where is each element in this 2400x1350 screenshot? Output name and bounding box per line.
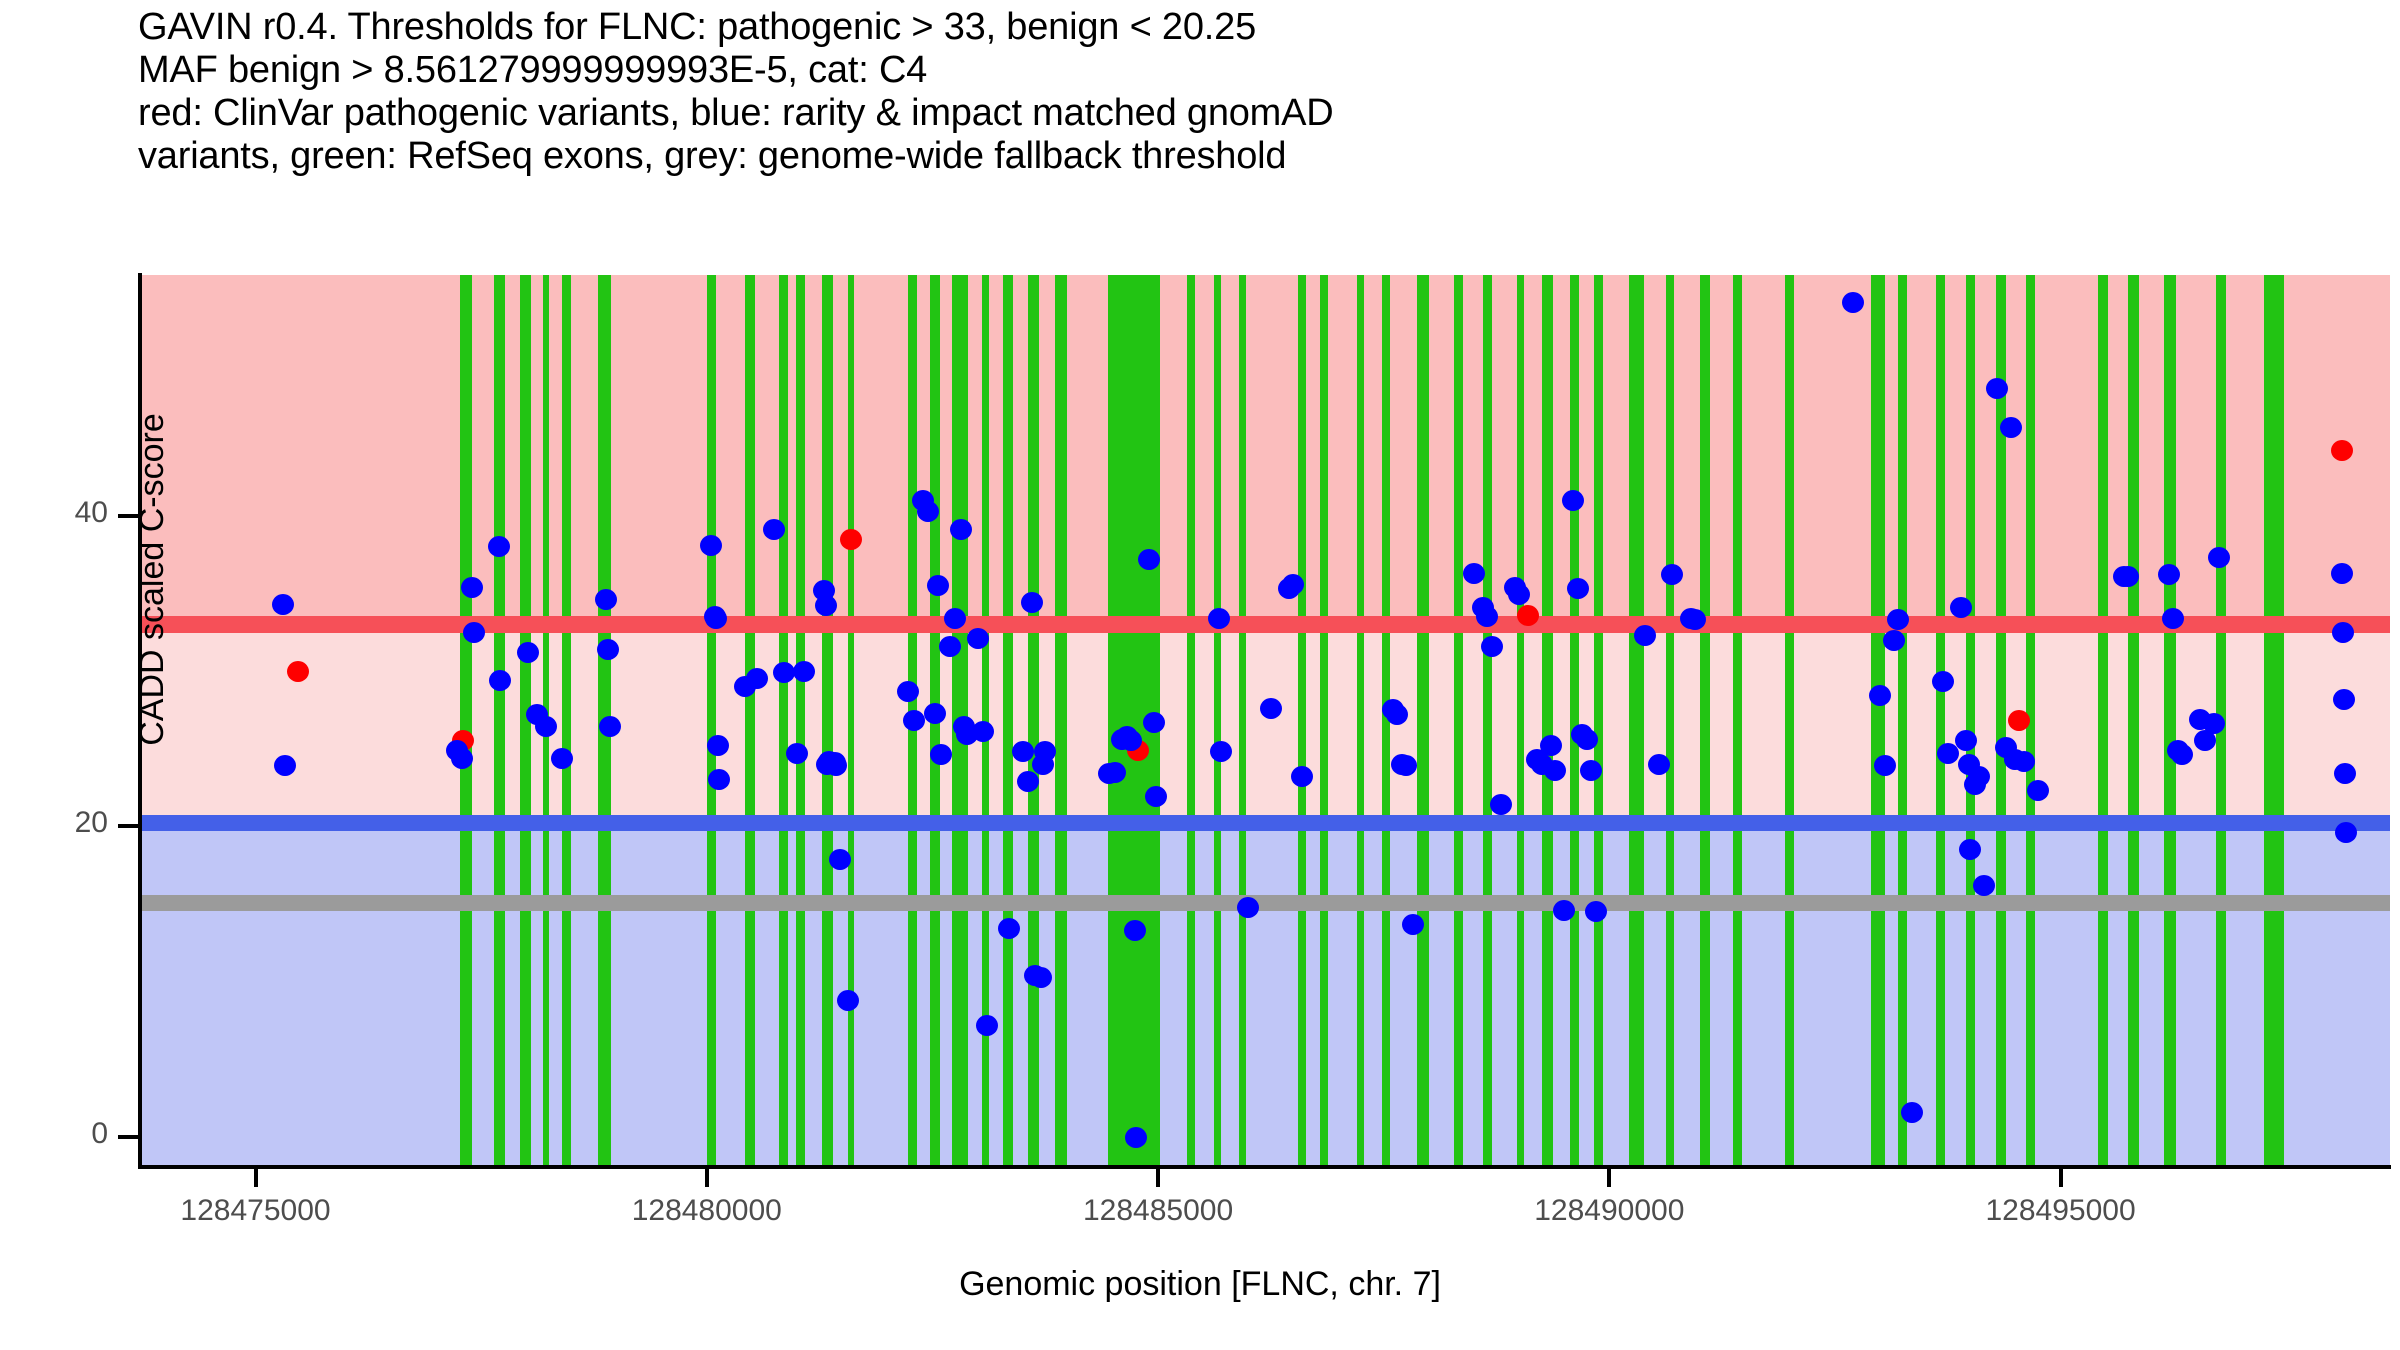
- gnomad-variant-point: [2331, 563, 2353, 584]
- gnomad-variant-point: [2334, 763, 2356, 784]
- gnomad-variant-point: [517, 642, 539, 663]
- exon-bar: [1187, 275, 1195, 1165]
- x-tick-mark: [254, 1169, 258, 1187]
- fallback-threshold-line: [140, 895, 2390, 911]
- gnomad-variant-point: [2335, 822, 2357, 843]
- exon-bar: [707, 275, 716, 1165]
- gnomad-variant-point: [1648, 754, 1670, 775]
- gnomad-variant-point: [1104, 762, 1126, 783]
- exon-bar: [460, 275, 471, 1165]
- x-tick-mark: [705, 1169, 709, 1187]
- exon-bar: [1454, 275, 1463, 1165]
- gnomad-variant-point: [2013, 751, 2035, 772]
- exon-bar: [1357, 275, 1364, 1165]
- x-tick-label: 128475000: [180, 1194, 330, 1228]
- gnomad-variant-point: [967, 628, 989, 649]
- gnomad-variant-point: [2208, 547, 2230, 568]
- gnomad-variant-point: [1012, 741, 1034, 762]
- exon-bar: [1594, 275, 1603, 1165]
- exon-bar: [1936, 275, 1945, 1165]
- gnomad-variant-point: [1138, 549, 1160, 570]
- exon-bar: [562, 275, 571, 1165]
- gnomad-variant-point: [2000, 417, 2022, 438]
- y-tick-mark: [118, 824, 138, 828]
- gnomad-variant-point: [1576, 729, 1598, 750]
- gnomad-variant-point: [2158, 564, 2180, 585]
- gnomad-variant-point: [944, 608, 966, 629]
- gnomad-variant-point: [2162, 608, 2184, 629]
- exon-bar: [1785, 275, 1794, 1165]
- gnomad-variant-point: [1237, 897, 1259, 918]
- exon-bar: [1320, 275, 1328, 1165]
- exon-bar: [1542, 275, 1554, 1165]
- x-tick-mark: [1607, 1169, 1611, 1187]
- gnomad-variant-point: [1874, 755, 1896, 776]
- exon-bar: [1028, 275, 1039, 1165]
- pathogenic-variant-point: [1517, 605, 1539, 626]
- title-line-1: GAVIN r0.4. Thresholds for FLNC: pathoge…: [138, 6, 2338, 49]
- exon-bar: [1966, 275, 1975, 1165]
- gnomad-variant-point: [976, 1015, 998, 1036]
- y-tick-mark: [118, 1135, 138, 1139]
- exon-bar: [2264, 275, 2285, 1165]
- exon-bar: [745, 275, 755, 1165]
- y-axis-title: CADD scaled C-score: [133, 413, 172, 746]
- exon-bar: [1055, 275, 1067, 1165]
- plot-area: [140, 275, 2390, 1165]
- gnomad-variant-point: [1540, 735, 1562, 756]
- pathogenic-variant-point: [2331, 440, 2353, 461]
- exon-bar: [1298, 275, 1306, 1165]
- gnomad-variant-point: [1937, 743, 1959, 764]
- gnomad-variant-point: [1585, 901, 1607, 922]
- gnomad-variant-point: [1260, 698, 1282, 719]
- gnomad-variant-point: [700, 535, 722, 556]
- exon-bar: [1898, 275, 1907, 1165]
- exon-bar: [1871, 275, 1885, 1165]
- gnomad-variant-point: [773, 662, 795, 683]
- title-line-2: MAF benign > 8.561279999999993E-5, cat: …: [138, 49, 2338, 92]
- exon-bar: [1417, 275, 1429, 1165]
- gnomad-variant-point: [1562, 490, 1584, 511]
- gnomad-variant-point: [927, 575, 949, 596]
- gnomad-variant-point: [595, 589, 617, 610]
- gnomad-variant-point: [1125, 1127, 1147, 1148]
- x-tick-label: 128480000: [632, 1194, 782, 1228]
- gnomad-variant-point: [786, 743, 808, 764]
- x-tick-label: 128495000: [1985, 1194, 2135, 1228]
- chart-root: GAVIN r0.4. Thresholds for FLNC: pathoge…: [0, 0, 2400, 1350]
- gnomad-variant-point: [2332, 622, 2354, 643]
- exon-bar: [1517, 275, 1523, 1165]
- chart-title-block: GAVIN r0.4. Thresholds for FLNC: pathoge…: [138, 6, 2338, 178]
- gnomad-variant-point: [917, 501, 939, 522]
- exon-bar: [1483, 275, 1492, 1165]
- gnomad-variant-point: [705, 608, 727, 629]
- benign-band: [140, 823, 2390, 1165]
- exon-bar: [1996, 275, 2006, 1165]
- exon-bar: [2128, 275, 2139, 1165]
- gnomad-variant-point: [1901, 1102, 1923, 1123]
- gnomad-variant-point: [451, 748, 473, 769]
- exon-bar: [822, 275, 833, 1165]
- intermediate-band: [140, 624, 2390, 822]
- x-axis-line: [138, 1165, 2391, 1169]
- gnomad-variant-point: [1544, 760, 1566, 781]
- gnomad-variant-point: [1017, 771, 1039, 792]
- exon-bar: [779, 275, 788, 1165]
- exon-bar: [796, 275, 805, 1165]
- gnomad-variant-point: [489, 670, 511, 691]
- gnomad-variant-point: [1402, 914, 1424, 935]
- gnomad-variant-point: [837, 990, 859, 1011]
- y-tick-label: 20: [0, 806, 108, 840]
- exon-bar: [2098, 275, 2108, 1165]
- gnomad-variant-point: [597, 639, 619, 660]
- x-axis-title: Genomic position [FLNC, chr. 7]: [0, 1265, 2400, 1304]
- y-tick-label: 0: [0, 1117, 108, 1151]
- y-tick-label: 40: [0, 496, 108, 530]
- gnomad-variant-point: [1124, 920, 1146, 941]
- gnomad-variant-point: [829, 849, 851, 870]
- gnomad-variant-point: [708, 769, 730, 790]
- exon-bar: [2164, 275, 2176, 1165]
- gnomad-variant-point: [972, 721, 994, 742]
- exon-bar: [1239, 275, 1246, 1165]
- exon-bar: [1629, 275, 1643, 1165]
- exon-bar: [494, 275, 505, 1165]
- title-line-4: variants, green: RefSeq exons, grey: gen…: [138, 135, 2338, 178]
- gnomad-variant-point: [272, 594, 294, 615]
- gnomad-variant-point: [1143, 712, 1165, 733]
- gnomad-variant-point: [1282, 574, 1304, 595]
- gnomad-variant-point: [1463, 563, 1485, 584]
- x-tick-mark: [2059, 1169, 2063, 1187]
- pathogenic-variant-point: [840, 529, 862, 550]
- exon-bar: [1214, 275, 1221, 1165]
- gnomad-variant-point: [1481, 636, 1503, 657]
- pathogenic-band: [140, 275, 2390, 624]
- exon-bar: [1733, 275, 1742, 1165]
- benign-threshold-line: [140, 815, 2390, 831]
- gnomad-variant-point: [461, 577, 483, 598]
- plot-canvas: [140, 275, 2390, 1165]
- gnomad-variant-point: [1490, 794, 1512, 815]
- gnomad-variant-point: [551, 748, 573, 769]
- gnomad-variant-point: [463, 622, 485, 643]
- gnomad-variant-point: [2333, 689, 2355, 710]
- gnomad-variant-point: [1021, 592, 1043, 613]
- x-tick-label: 128490000: [1534, 1194, 1684, 1228]
- exon-bar: [1570, 275, 1579, 1165]
- gnomad-variant-point: [1973, 875, 1995, 896]
- x-tick-mark: [1156, 1169, 1160, 1187]
- pathogenic-variant-point: [287, 661, 309, 682]
- gnomad-variant-point: [924, 703, 946, 724]
- gnomad-variant-point: [897, 681, 919, 702]
- gnomad-variant-point: [1553, 900, 1575, 921]
- gnomad-variant-point: [1883, 630, 1905, 651]
- gnomad-variant-point: [1208, 608, 1230, 629]
- gnomad-variant-point: [2117, 566, 2139, 587]
- gnomad-variant-point: [1567, 578, 1589, 599]
- x-tick-label: 128485000: [1083, 1194, 1233, 1228]
- exon-bar: [1666, 275, 1674, 1165]
- gnomad-variant-point: [707, 735, 729, 756]
- gnomad-variant-point: [793, 661, 815, 682]
- exon-bar: [848, 275, 854, 1165]
- exon-bar: [1700, 275, 1711, 1165]
- exon-bar: [1003, 275, 1013, 1165]
- gnomad-variant-point: [1030, 967, 1052, 988]
- title-line-3: red: ClinVar pathogenic variants, blue: …: [138, 92, 2338, 135]
